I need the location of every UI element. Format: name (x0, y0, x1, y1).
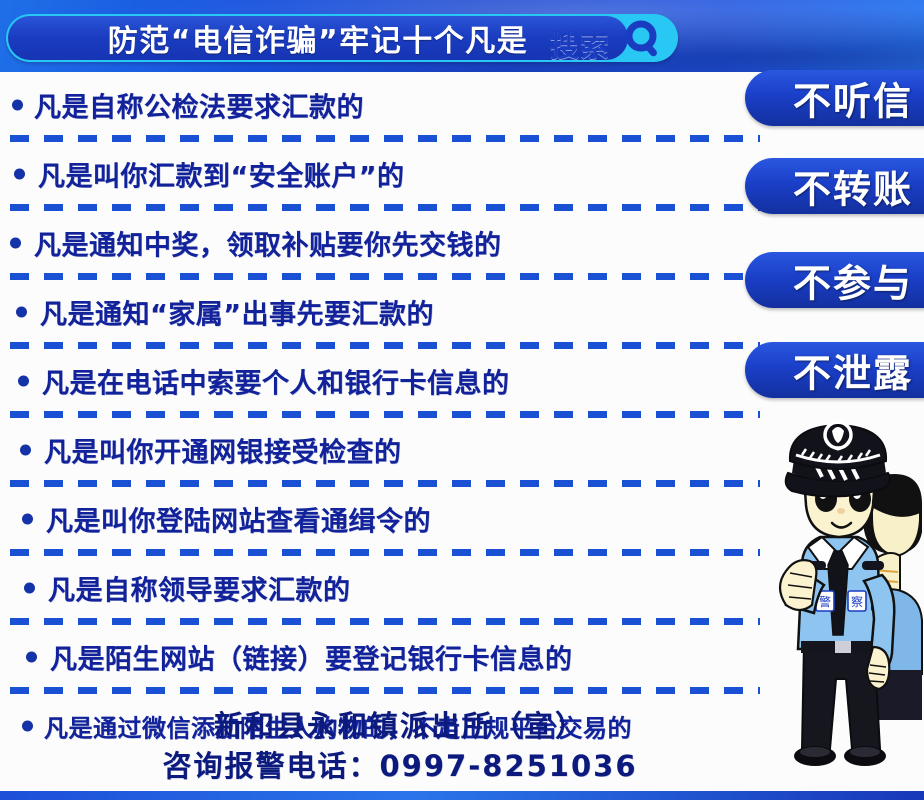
list-item-label: 凡是自称领导要求汇款的 (48, 568, 351, 607)
list-item-label: 凡是叫你开通网银接受检查的 (44, 430, 402, 469)
bullet-dot-icon (18, 375, 29, 386)
dashed-separator (10, 411, 760, 418)
page-title: 防范“电信诈骗”牢记十个凡是 (108, 16, 528, 60)
dashed-separator (10, 342, 760, 349)
bullet-dot-icon (14, 168, 25, 179)
dashed-separator (10, 273, 760, 280)
bullet-dot-icon (16, 306, 27, 317)
dashed-separator (10, 135, 760, 142)
list-item: 凡是在电话中索要个人和银行卡信息的 (0, 350, 760, 411)
list-item: 凡是自称领导要求汇款的 (0, 557, 760, 618)
slogan-pill-bu-xie-lu[interactable]: 不泄露 (745, 342, 924, 398)
bullet-dot-icon (20, 444, 31, 455)
slogan-label: 不转账 (793, 159, 913, 214)
list-item: 凡是叫你开通网银接受检查的 (0, 419, 760, 480)
list-item: 凡是通知“家属”出事先要汇款的 (0, 281, 760, 342)
list-item: 凡是叫你登陆网站查看通缉令的 (0, 488, 760, 549)
slogan-label: 不参与 (793, 253, 913, 308)
list-item-label: 凡是通知中奖，领取补贴要你先交钱的 (34, 223, 502, 262)
slogan-label: 不听信 (793, 71, 913, 126)
anti-fraud-poster: 防范“电信诈骗”牢记十个凡是 搜索 凡是自称公检法要求汇款的 凡是叫你汇款到“安… (0, 0, 924, 800)
dashed-separator (10, 618, 760, 625)
saluting-police-officer-illustration: 警 察 (752, 415, 924, 795)
dashed-separator (10, 549, 760, 556)
footer: 新和县永和镇派出所（宣） 咨询报警电话：0997-8251036 (0, 706, 800, 786)
bullet-dot-icon (26, 651, 37, 662)
title-inner-pill: 防范“电信诈骗”牢记十个凡是 (8, 16, 628, 60)
list-item: 凡是通知中奖，领取补贴要你先交钱的 (0, 212, 760, 273)
bullet-dot-icon (24, 582, 35, 593)
magnifier-icon[interactable] (624, 20, 664, 60)
list-item-label: 凡是陌生网站（链接）要登记银行卡信息的 (50, 637, 573, 676)
list-item: 凡是自称公检法要求汇款的 (0, 74, 760, 135)
search-label[interactable]: 搜索 (550, 23, 610, 65)
list-item-label: 凡是通知“家属”出事先要汇款的 (40, 292, 434, 331)
bullet-dot-icon (10, 237, 21, 248)
svg-text:警: 警 (819, 594, 831, 609)
fraud-rules-list: 凡是自称公检法要求汇款的 凡是叫你汇款到“安全账户”的 凡是通知中奖，领取补贴要… (0, 74, 760, 756)
list-item-label: 凡是叫你登陆网站查看通缉令的 (46, 499, 431, 538)
list-item-label: 凡是叫你汇款到“安全账户”的 (38, 154, 405, 193)
footer-hotline: 咨询报警电话：0997-8251036 (0, 746, 800, 786)
svg-text:察: 察 (851, 595, 863, 609)
dashed-separator (10, 480, 760, 487)
dashed-separator (10, 204, 760, 211)
slogan-label: 不泄露 (793, 343, 913, 398)
slogan-pill-bu-ting-xin[interactable]: 不听信 (745, 70, 924, 126)
slogan-pill-bu-zhuan-zhang[interactable]: 不转账 (745, 158, 924, 214)
slogan-pill-bu-can-yu[interactable]: 不参与 (745, 252, 924, 308)
dashed-separator (10, 687, 760, 694)
title-pill: 防范“电信诈骗”牢记十个凡是 搜索 (6, 14, 678, 62)
list-item-label: 凡是在电话中索要个人和银行卡信息的 (42, 361, 510, 400)
list-item: 凡是叫你汇款到“安全账户”的 (0, 143, 760, 204)
bullet-dot-icon (12, 99, 23, 110)
list-item: 凡是陌生网站（链接）要登记银行卡信息的 (0, 626, 760, 687)
footer-organization: 新和县永和镇派出所（宣） (0, 706, 800, 746)
bullet-dot-icon (22, 513, 33, 524)
list-item-label: 凡是自称公检法要求汇款的 (34, 85, 364, 124)
